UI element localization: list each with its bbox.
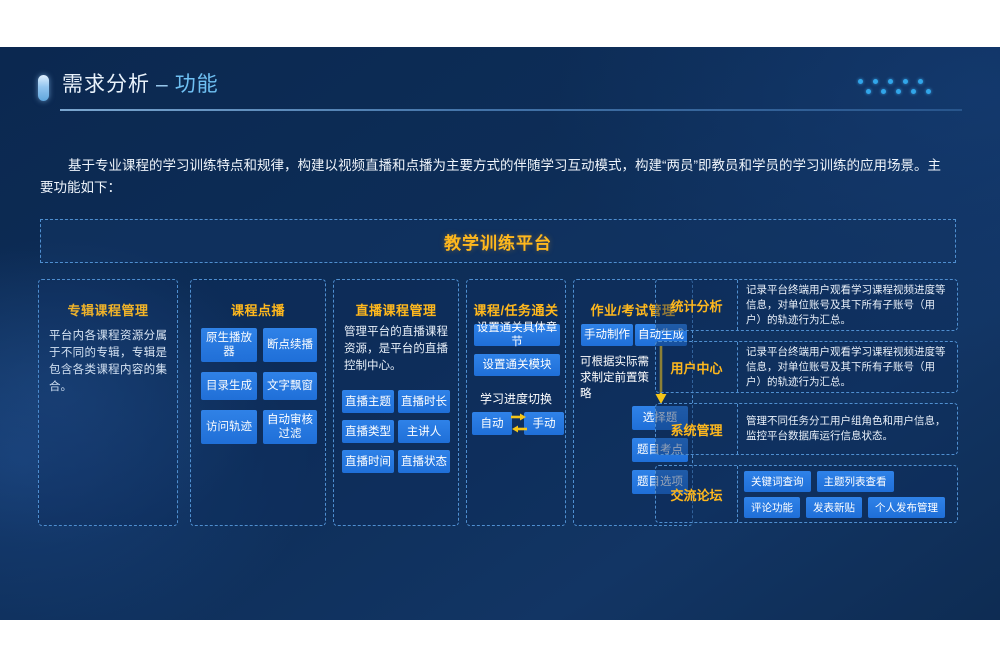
forum-button[interactable]: 关键词查询 <box>744 471 811 492</box>
feature-button[interactable]: 主讲人 <box>398 420 450 443</box>
decoration-dot <box>858 79 863 84</box>
toggle-auto-button[interactable]: 自动 <box>472 412 512 435</box>
forum-button[interactable]: 评论功能 <box>744 497 800 518</box>
page-title-accent: 功能 <box>175 73 219 96</box>
page-title: 需求分析–功能 <box>62 68 219 98</box>
feature-button[interactable]: 手动制作 <box>581 324 633 346</box>
decoration-dot <box>896 89 901 94</box>
decoration-dot <box>911 89 916 94</box>
feature-button[interactable]: 文字飘窗 <box>263 372 317 400</box>
column-album-course-management: 专辑课程管理 平台内各课程资源分属于不同的专辑，专辑是包含各类课程内容的集合。 <box>38 279 178 526</box>
slide-canvas: 需求分析–功能 基于专业课程的学习训练特点和规律，构建以视频直播和点播为主要方式… <box>0 47 1000 620</box>
feature-button[interactable]: 原生播放器 <box>201 328 257 362</box>
row-label: 系统管理 <box>656 404 738 454</box>
row-description: 记录平台终端用户观看学习课程视频进度等信息，对单位账号及其下所有子账号（用户）的… <box>746 280 949 330</box>
decoration-dot <box>918 79 923 84</box>
platform-banner: 教学训练平台 <box>40 219 956 263</box>
column-title: 课程/任务通关 <box>467 300 565 319</box>
feature-button[interactable]: 直播状态 <box>398 450 450 473</box>
forum-button[interactable]: 发表新贴 <box>806 497 862 518</box>
row-label: 用户中心 <box>656 342 738 392</box>
column-description: 管理平台的直播课程资源，是平台的直播控制中心。 <box>344 324 448 375</box>
feature-button[interactable]: 设置通关模块 <box>474 354 560 376</box>
header-divider <box>60 109 962 111</box>
column-description: 平台内各课程资源分属于不同的专辑，专辑是包含各类课程内容的集合。 <box>49 328 167 396</box>
page-title-main: 需求分析 <box>62 73 150 96</box>
column-title: 专辑课程管理 <box>39 300 177 319</box>
row-label: 交流论坛 <box>656 466 738 522</box>
page-title-dash: – <box>156 73 169 96</box>
platform-title: 教学训练平台 <box>444 229 552 254</box>
feature-button[interactable]: 自动审核过滤 <box>263 410 317 444</box>
row-label: 统计分析 <box>656 280 738 330</box>
feature-button[interactable]: 直播类型 <box>342 420 394 443</box>
feature-button[interactable]: 设置通关具体章节 <box>474 324 560 346</box>
rounded-pill-icon <box>38 75 49 101</box>
module-rows: 统计分析 记录平台终端用户观看学习课程视频进度等信息，对单位账号及其下所有子账号… <box>655 279 958 526</box>
intro-paragraph: 基于专业课程的学习训练特点和规律，构建以视频直播和点播为主要方式的伴随学习互动模… <box>40 155 952 199</box>
forum-buttons: 关键词查询 主题列表查看 评论功能 发表新贴 个人发布管理 <box>744 466 951 522</box>
decoration-dot <box>903 79 908 84</box>
decoration-dot <box>866 89 871 94</box>
column-title: 直播课程管理 <box>334 300 458 319</box>
feature-button[interactable]: 直播时长 <box>398 390 450 413</box>
decoration-dot <box>873 79 878 84</box>
column-title: 课程点播 <box>191 300 325 319</box>
row-user-center: 用户中心 记录平台终端用户观看学习课程视频进度等信息，对单位账号及其下所有子账号… <box>655 341 958 393</box>
row-system-management: 系统管理 管理不同任务分工用户组角色和用户信息，监控平台数据库运行信息状态。 <box>655 403 958 455</box>
forum-button[interactable]: 主题列表查看 <box>817 471 894 492</box>
decoration-dot <box>881 89 886 94</box>
dot-grid-decoration <box>858 79 950 103</box>
forum-button[interactable]: 个人发布管理 <box>868 497 945 518</box>
column-course-task-pass: 课程/任务通关 设置通关具体章节 设置通关模块 学习进度切换 自动 手动 <box>466 279 566 526</box>
feature-button[interactable]: 直播时间 <box>342 450 394 473</box>
slide-header: 需求分析–功能 <box>38 65 962 123</box>
feature-button[interactable]: 访问轨迹 <box>201 410 257 444</box>
progress-switch-label: 学习进度切换 <box>467 390 565 407</box>
decoration-dot <box>926 89 931 94</box>
bidirectional-arrow-icon <box>511 411 527 437</box>
row-description: 管理不同任务分工用户组角色和用户信息，监控平台数据库运行信息状态。 <box>746 404 949 454</box>
row-statistics-analysis: 统计分析 记录平台终端用户观看学习课程视频进度等信息，对单位账号及其下所有子账号… <box>655 279 958 331</box>
column-course-on-demand: 课程点播 原生播放器 断点续播 目录生成 文字飘窗 访问轨迹 自动审核过滤 <box>190 279 326 526</box>
feature-button[interactable]: 目录生成 <box>201 372 257 400</box>
feature-button[interactable]: 断点续播 <box>263 328 317 362</box>
feature-button[interactable]: 直播主题 <box>342 390 394 413</box>
exam-strategy-note: 可根据实际需求制定前置策略 <box>580 354 654 402</box>
decoration-dot <box>888 79 893 84</box>
column-live-course-management: 直播课程管理 管理平台的直播课程资源，是平台的直播控制中心。 直播主题 直播时长… <box>333 279 459 526</box>
row-description: 记录平台终端用户观看学习课程视频进度等信息，对单位账号及其下所有子账号（用户）的… <box>746 342 949 392</box>
row-discussion-forum: 交流论坛 关键词查询 主题列表查看 评论功能 发表新贴 个人发布管理 <box>655 465 958 523</box>
toggle-manual-button[interactable]: 手动 <box>524 412 564 435</box>
